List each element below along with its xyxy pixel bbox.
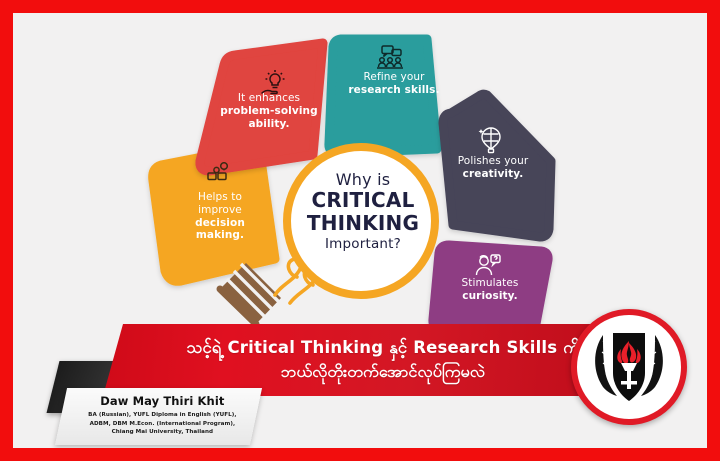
center-line-important: Important? [288,236,438,253]
petal-orange-line2: decision making. [179,217,261,243]
petal-orange-line1: Helps to improve [179,191,261,217]
petal-label-purple: Stimulates curiosity. [437,277,543,303]
speaker-name: Daw May Thiri Khit [72,394,253,408]
speaker-credentials: BA (Russian), YUFL Diploma in English (Y… [72,411,253,437]
banner-line-1: သင့်ရဲ့ Critical Thinking နှင့် Research… [186,336,579,361]
crest-icon [583,321,675,413]
center-line-thinking: THINKING [288,212,438,236]
petal-label-teal: Refine your research skills. [335,71,453,97]
credential-line-2: ADBM, DBM M.Econ. (International Program… [72,420,253,429]
petal-teal-line1: Refine your [335,71,453,84]
credential-line-3: Chiang Mai University, Thailand [72,428,253,437]
speaker-nameplate: Daw May Thiri Khit BA (Russian), YUFL Di… [55,388,262,445]
hot-air-balloon-icon [477,125,505,159]
petal-label-navy: Polishes your creativity. [437,155,549,181]
center-line-critical: CRITICAL [288,189,438,213]
torch-shield-crest-logo [571,309,687,425]
petal-purple-line2: curiosity. [437,290,543,303]
petal-red-line1: It enhances [209,92,329,105]
petal-purple-line1: Stimulates [437,277,543,290]
center-line-why: Why is [288,171,438,189]
petal-label-orange: Helps to improve decision making. [179,191,261,242]
gears-decision-icon [205,160,235,190]
petal-navy-line2: creativity. [437,168,549,181]
credential-line-1: BA (Russian), YUFL Diploma in English (Y… [72,411,253,420]
petal-navy-line1: Polishes your [437,155,549,168]
petal-label-red: It enhances problem-solving ability. [209,92,329,130]
center-headline: Why is CRITICAL THINKING Important? [288,171,438,253]
banner-line-2: ဘယ်လိုတိုးတက်အောင်လုပ်ကြမလဲ [281,360,485,384]
poster-canvas: Helps to improve decision making. It enh… [0,0,720,461]
petal-red-line2: problem-solving ability. [209,105,329,131]
petal-teal-line2: research skills. [335,84,453,97]
